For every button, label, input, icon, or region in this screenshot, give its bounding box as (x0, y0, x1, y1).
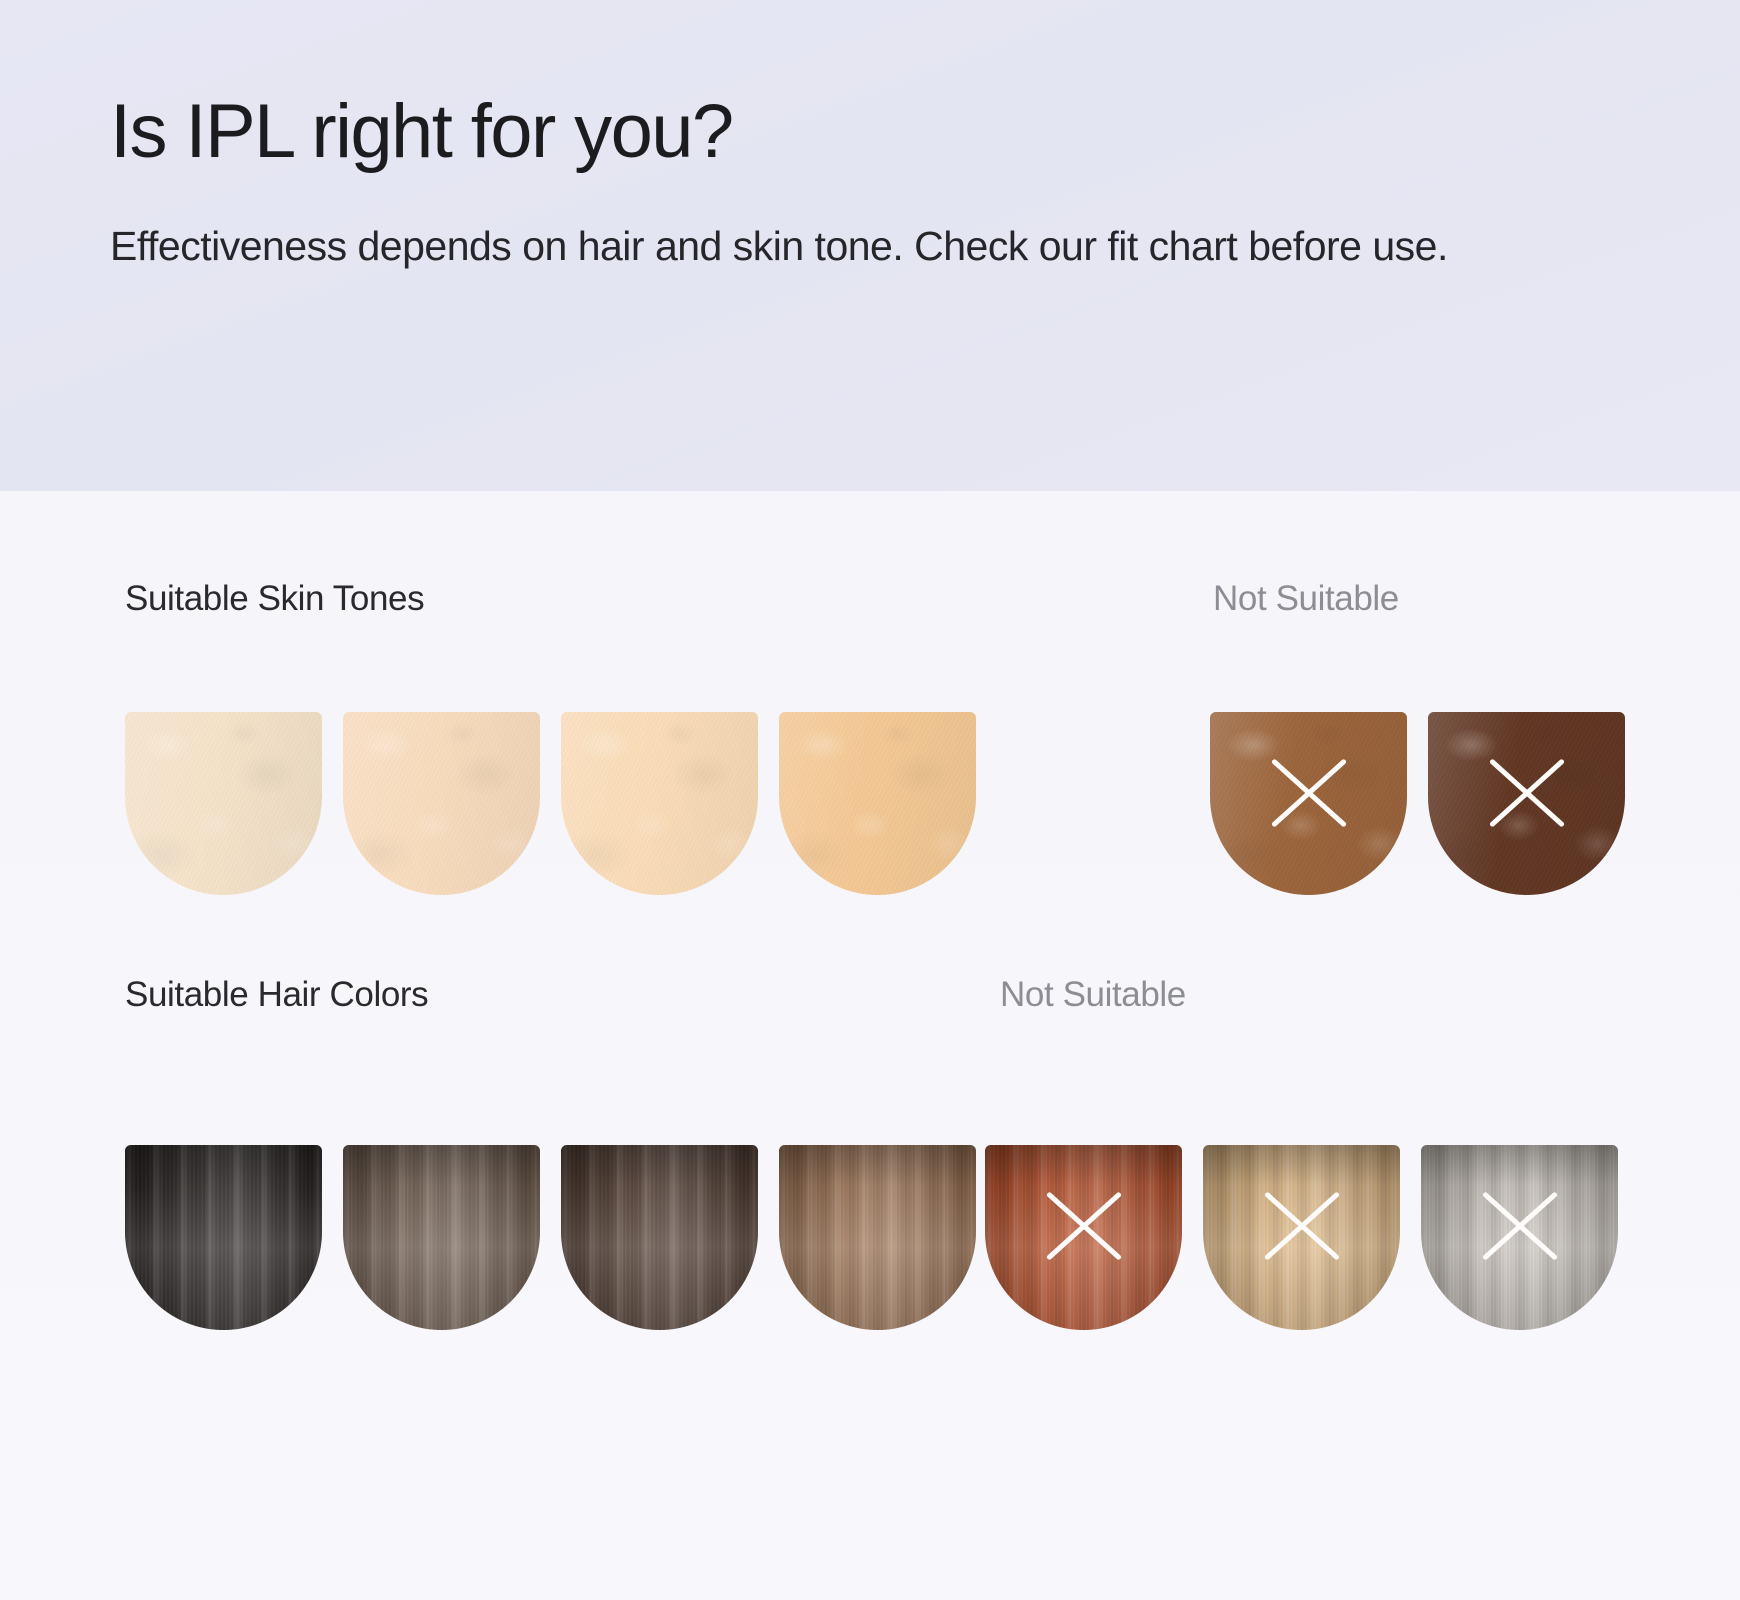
skin-grain-overlay (1210, 712, 1407, 895)
not-suitable-hair-swatch-row (985, 1145, 1618, 1330)
skin-grain-overlay (779, 712, 976, 895)
suitable-hair-colors-label: Suitable Hair Colors (125, 975, 428, 1015)
skin-grain-overlay (561, 712, 758, 895)
skin-swatch-dark-brown[interactable] (1428, 712, 1625, 895)
skin-grain-overlay (343, 712, 540, 895)
hair-swatch-red[interactable] (985, 1145, 1182, 1330)
suitable-hair-swatch-row (125, 1145, 976, 1330)
not-suitable-skin-tones-label: Not Suitable (1213, 579, 1399, 619)
hair-swatch-blonde[interactable] (1203, 1145, 1400, 1330)
suitable-skin-swatch-row (125, 712, 976, 895)
not-suitable-hair-colors-label: Not Suitable (1000, 975, 1186, 1015)
skin-swatch-light[interactable] (561, 712, 758, 895)
fit-chart-content: Suitable Skin Tones Not Suitable (0, 491, 1740, 1600)
page-title: Is IPL right for you? (110, 92, 1630, 171)
skin-swatch-very-fair[interactable] (125, 712, 322, 895)
hair-swatch-grey-white[interactable] (1421, 1145, 1618, 1330)
hero-banner: Is IPL right for you? Effectiveness depe… (0, 0, 1740, 491)
hair-shine-overlay (561, 1145, 758, 1330)
hair-swatch-black[interactable] (125, 1145, 322, 1330)
hair-swatch-dark-brown[interactable] (561, 1145, 758, 1330)
hair-swatch-light-brown[interactable] (779, 1145, 976, 1330)
hair-shine-overlay (343, 1145, 540, 1330)
hair-shine-overlay (985, 1145, 1182, 1330)
hair-shine-overlay (1421, 1145, 1618, 1330)
hair-shine-overlay (125, 1145, 322, 1330)
not-suitable-skin-swatch-row (1210, 712, 1625, 895)
skin-grain-overlay (1428, 712, 1625, 895)
hair-swatch-dark-ash-brown[interactable] (343, 1145, 540, 1330)
skin-swatch-light-medium[interactable] (779, 712, 976, 895)
skin-grain-overlay (125, 712, 322, 895)
skin-swatch-fair[interactable] (343, 712, 540, 895)
hair-shine-overlay (779, 1145, 976, 1330)
page-subtitle: Effectiveness depends on hair and skin t… (110, 217, 1540, 275)
hair-shine-overlay (1203, 1145, 1400, 1330)
suitable-skin-tones-label: Suitable Skin Tones (125, 579, 424, 619)
skin-swatch-deep-tan[interactable] (1210, 712, 1407, 895)
